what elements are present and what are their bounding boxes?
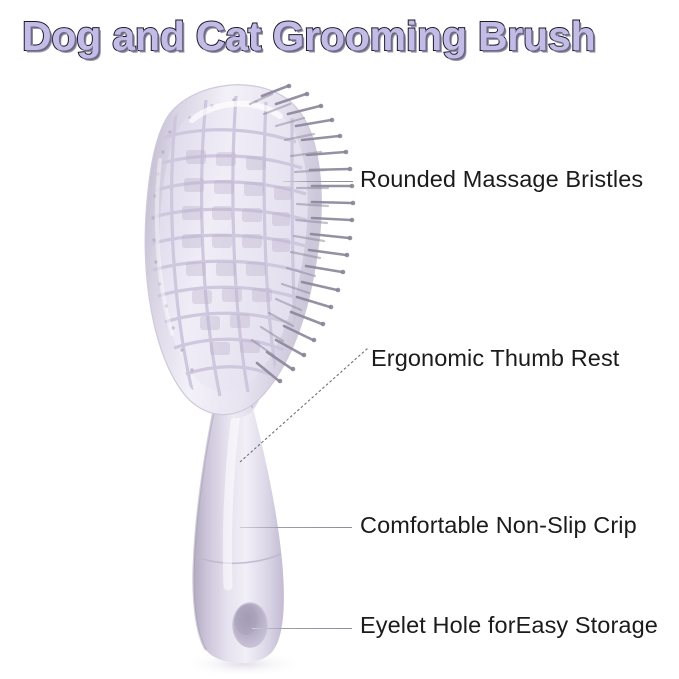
- brush-head: [145, 85, 321, 415]
- brush-illustration: [0, 0, 679, 679]
- leader-line-eyelet: [252, 628, 352, 629]
- callout-label-thumb-rest: Ergonomic Thumb Rest: [371, 345, 619, 372]
- callout-label-bristles: Rounded Massage Bristles: [360, 166, 643, 193]
- product-infographic: Dog and Cat Grooming Brush: [0, 0, 679, 679]
- leader-line-bristles: [283, 181, 353, 182]
- eyelet-hole: [233, 603, 267, 647]
- callout-label-grip: Comfortable Non-Slip Crip: [360, 512, 637, 539]
- leader-line-grip: [240, 527, 352, 528]
- callout-label-eyelet: Eyelet Hole forEasy Storage: [360, 612, 658, 639]
